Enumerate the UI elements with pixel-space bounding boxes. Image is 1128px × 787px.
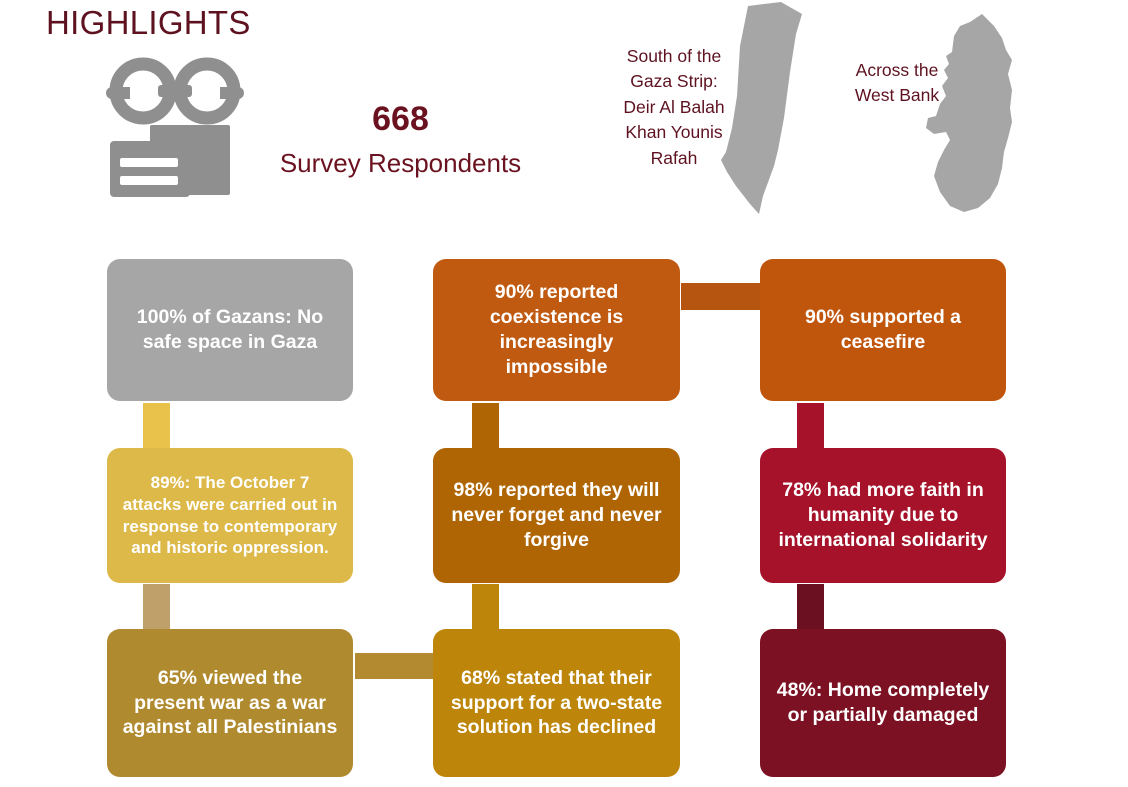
flow-box-r2c2[interactable]: 98% reported they will never forget and … [433, 448, 680, 583]
flow-box-r1c2[interactable]: 90% reported coexistence is increasingly… [433, 259, 680, 401]
flow-box-text: 78% had more faith in humanity due to in… [774, 478, 992, 553]
respondent-count-label: Survey Respondents [238, 148, 563, 179]
flow-box-text: 68% stated that their support for a two-… [447, 666, 666, 741]
flow-box-r1c3[interactable]: 90% supported a ceasefire [760, 259, 1006, 401]
respondent-count: 668 [258, 100, 543, 139]
flow-box-r2c1[interactable]: 89%: The October 7 attacks were carried … [107, 448, 353, 583]
flow-connector [797, 584, 824, 630]
glasses-survey-icon [100, 55, 250, 205]
west-bank-map-icon [924, 12, 1024, 217]
flow-box-text: 90% supported a ceasefire [774, 305, 992, 355]
flow-box-text: 100% of Gazans: No safe space in Gaza [121, 305, 339, 355]
flow-box-r3c2[interactable]: 68% stated that their support for a two-… [433, 629, 680, 777]
flow-connector [472, 403, 499, 449]
flow-connector [143, 403, 170, 449]
flow-box-text: 65% viewed the present war as a war agai… [121, 666, 339, 741]
flow-box-r3c1[interactable]: 65% viewed the present war as a war agai… [107, 629, 353, 777]
flow-box-text: 98% reported they will never forget and … [447, 478, 666, 553]
flow-connector [472, 584, 499, 630]
flow-box-text: 48%: Home completely or partially damage… [774, 678, 992, 728]
flow-connector [143, 584, 170, 630]
flow-connector [797, 403, 824, 449]
flow-box-r2c3[interactable]: 78% had more faith in humanity due to in… [760, 448, 1006, 583]
flow-box-r3c3[interactable]: 48%: Home completely or partially damage… [760, 629, 1006, 777]
flow-box-r1c1[interactable]: 100% of Gazans: No safe space in Gaza [107, 259, 353, 401]
flow-box-text: 89%: The October 7 attacks were carried … [121, 472, 339, 559]
flow-connector [355, 653, 435, 679]
page-title: HIGHLIGHTS [46, 3, 251, 43]
gaza-strip-map-icon [718, 0, 810, 218]
flow-connector [681, 283, 761, 310]
flow-box-text: 90% reported coexistence is increasingly… [447, 280, 666, 380]
